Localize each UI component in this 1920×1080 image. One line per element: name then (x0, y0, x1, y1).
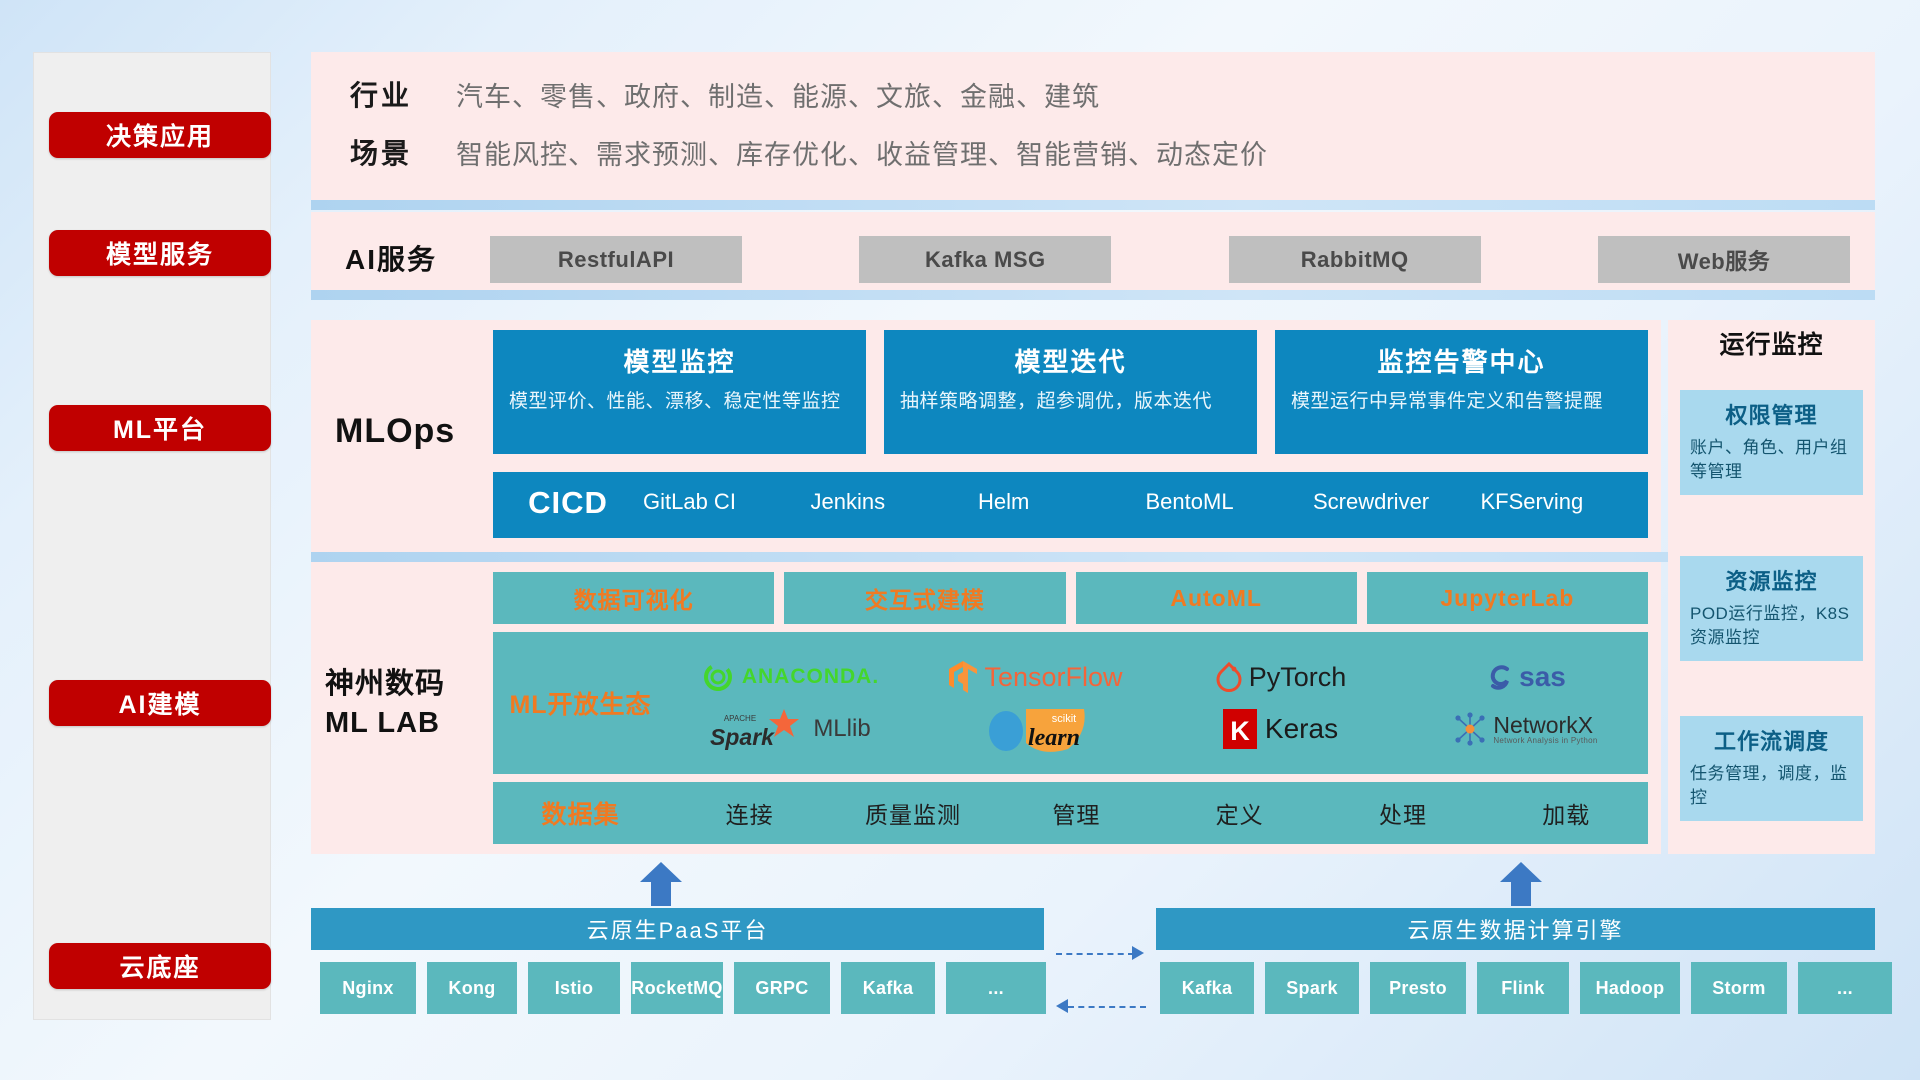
sidebar-item-label: 决策应用 (106, 117, 214, 153)
dataset-item-list: 连接 质量监测 管理 定义 处理 加载 (668, 796, 1648, 830)
engine-chip-presto[interactable]: Presto (1370, 962, 1466, 1014)
cloud-chip-rocketmq[interactable]: RocketMQ (631, 962, 723, 1014)
band-divider (311, 200, 1875, 210)
cicd-row: CICD GitLab CI Jenkins Helm BentoML Scre… (493, 472, 1648, 538)
mlops-card-model-iteration[interactable]: 模型迭代 抽样策略调整，超参调优，版本迭代 (884, 330, 1257, 454)
card-title: 监控告警中心 (1291, 342, 1632, 379)
pytorch-label: PyTorch (1249, 662, 1347, 693)
dataset-title: 数据集 (493, 795, 668, 831)
industry-value: 汽车、零售、政府、制造、能源、文旅、金融、建筑 (456, 75, 1100, 114)
tensorflow-icon (948, 660, 978, 694)
ml-lab-label-line1: 神州数码 (325, 665, 445, 704)
spark-icon: APACHE Spark (710, 707, 806, 751)
spark-mllib-logo[interactable]: APACHE Spark MLlib (710, 707, 870, 751)
cicd-tool-list: GitLab CI Jenkins Helm BentoML Screwdriv… (643, 472, 1648, 516)
chip-label: Flink (1501, 978, 1545, 998)
keras-label: Keras (1265, 713, 1338, 745)
svg-text:Spark: Spark (710, 724, 775, 750)
ml-ecosystem-logo-grid: ANACONDA. TensorFlow PyTorch (668, 651, 1648, 755)
networkx-logo[interactable]: NetworkX Network Analysis in Python (1453, 712, 1597, 746)
ai-service-chip-list: RestfulAPI Kafka MSG RabbitMQ Web服务 (490, 236, 1850, 283)
cicd-title: CICD (493, 472, 643, 521)
card-desc: 账户、角色、用户组等管理 (1690, 436, 1853, 484)
chip-label: ... (1837, 978, 1853, 998)
sidebar-item-label: 云底座 (119, 948, 200, 984)
anaconda-icon (702, 661, 734, 693)
sidebar-item-label: 模型服务 (106, 235, 214, 271)
ai-service-chip-restfulapi[interactable]: RestfulAPI (490, 236, 742, 283)
sas-label: sas (1519, 661, 1566, 693)
ai-service-chip-web-service[interactable]: Web服务 (1598, 236, 1850, 283)
cicd-tool-gitlab-ci[interactable]: GitLab CI (643, 472, 811, 516)
cloud-data-engine-bar[interactable]: 云原生数据计算引擎 (1156, 908, 1875, 950)
chip-label: Spark (1286, 978, 1338, 998)
card-title: 工作流调度 (1690, 724, 1853, 756)
dataset-item-load[interactable]: 加载 (1485, 796, 1648, 830)
engine-chip-kafka[interactable]: Kafka (1160, 962, 1254, 1014)
tensorflow-logo[interactable]: TensorFlow (948, 660, 1122, 694)
networkx-icon (1453, 712, 1487, 746)
upward-arrow-left (640, 862, 682, 908)
card-desc: 任务管理，调度，监控 (1690, 762, 1853, 810)
sidebar-item-label: ML平台 (113, 410, 207, 446)
card-desc: 模型评价、性能、漂移、稳定性等监控 (509, 389, 850, 416)
monitoring-card-permission[interactable]: 权限管理 账户、角色、用户组等管理 (1680, 390, 1863, 495)
chip-label: Kafka (1182, 978, 1233, 998)
card-title: 权限管理 (1690, 398, 1853, 430)
card-title: 模型监控 (509, 342, 850, 379)
chip-label: ... (988, 978, 1004, 998)
cicd-tool-jenkins[interactable]: Jenkins (811, 472, 979, 516)
dataset-item-manage[interactable]: 管理 (995, 796, 1158, 830)
mlops-card-list: 模型监控 模型评价、性能、漂移、稳定性等监控 模型迭代 抽样策略调整，超参调优，… (493, 330, 1648, 454)
chip-label: Storm (1712, 978, 1766, 998)
networkx-tagline: Network Analysis in Python (1493, 737, 1597, 745)
anaconda-logo[interactable]: ANACONDA. (702, 661, 879, 693)
card-desc: 抽样策略调整，超参调优，版本迭代 (900, 389, 1241, 416)
dashed-arrowhead-left (1056, 999, 1068, 1013)
ai-service-chip-kafka-msg[interactable]: Kafka MSG (859, 236, 1111, 283)
cloud-chip-kong[interactable]: Kong (427, 962, 517, 1014)
cloud-chip-istio[interactable]: Istio (528, 962, 620, 1014)
card-desc: POD运行监控，K8S资源监控 (1690, 602, 1853, 650)
dataset-item-connect[interactable]: 连接 (668, 796, 831, 830)
cloud-data-engine-chip-list: Kafka Spark Presto Flink Hadoop Storm ..… (1160, 962, 1892, 1014)
monitoring-card-resource[interactable]: 资源监控 POD运行监控，K8S资源监控 (1680, 556, 1863, 661)
cloud-chip-grpc[interactable]: GRPC (734, 962, 830, 1014)
keras-icon: K (1223, 709, 1257, 749)
scenario-row: 场景 智能风控、需求预测、库存优化、收益管理、智能营销、动态定价 (350, 132, 1268, 172)
sidebar-item-ai-modeling[interactable]: AI建模 (49, 680, 271, 726)
cicd-tool-kfserving[interactable]: KFServing (1481, 472, 1649, 516)
tab-interactive-modeling[interactable]: 交互式建模 (784, 572, 1065, 624)
svg-text:scikit: scikit (1051, 713, 1075, 725)
sidebar-item-ml-platform[interactable]: ML平台 (49, 405, 271, 451)
card-desc: 模型运行中异常事件定义和告警提醒 (1291, 389, 1632, 416)
monitoring-title: 运行监控 (1668, 325, 1875, 361)
cicd-tool-bentoml[interactable]: BentoML (1146, 472, 1314, 516)
dashed-connector-top (1056, 953, 1134, 955)
chip-label: Presto (1389, 978, 1447, 998)
svg-text:K: K (1230, 716, 1250, 746)
mlops-card-model-monitoring[interactable]: 模型监控 模型评价、性能、漂移、稳定性等监控 (493, 330, 866, 454)
sidebar-item-label: AI建模 (118, 685, 201, 721)
scenario-label: 场景 (350, 132, 412, 172)
svg-text:APACHE: APACHE (724, 714, 756, 723)
pytorch-logo[interactable]: PyTorch (1215, 661, 1347, 693)
tab-label: 交互式建模 (865, 581, 985, 615)
sidebar-item-decision-app[interactable]: 决策应用 (49, 112, 271, 158)
mllib-label: MLlib (813, 715, 870, 743)
sas-icon (1485, 662, 1515, 692)
tab-data-visualization[interactable]: 数据可视化 (493, 572, 774, 624)
chip-label: Nginx (342, 978, 394, 998)
monitoring-card-workflow[interactable]: 工作流调度 任务管理，调度，监控 (1680, 716, 1863, 821)
chip-label: RestfulAPI (558, 247, 674, 273)
mlops-label: MLOps (335, 412, 455, 451)
ml-lab-label: 神州数码 ML LAB (325, 665, 445, 743)
dataset-row: 数据集 连接 质量监测 管理 定义 处理 加载 (493, 782, 1648, 844)
dashed-connector-bottom (1068, 1006, 1146, 1008)
chip-label: RabbitMQ (1301, 247, 1409, 273)
svg-text:learn: learn (1027, 725, 1079, 751)
pytorch-icon (1215, 661, 1243, 693)
cloud-chip-more[interactable]: ... (946, 962, 1046, 1014)
cloud-chip-kafka[interactable]: Kafka (841, 962, 935, 1014)
scenario-value: 智能风控、需求预测、库存优化、收益管理、智能营销、动态定价 (456, 133, 1268, 172)
tab-automl[interactable]: AutoML (1076, 572, 1357, 624)
sidebar-item-model-service[interactable]: 模型服务 (49, 230, 271, 276)
chip-label: Hadoop (1596, 978, 1665, 998)
tensorflow-label: TensorFlow (984, 662, 1122, 693)
engine-chip-hadoop[interactable]: Hadoop (1580, 962, 1680, 1014)
chip-label: Kafka MSG (925, 247, 1046, 273)
tab-jupyterlab[interactable]: JupyterLab (1367, 572, 1648, 624)
engine-chip-storm[interactable]: Storm (1691, 962, 1787, 1014)
scikit-learn-logo[interactable]: scikit learn (982, 703, 1090, 755)
card-title: 模型迭代 (900, 342, 1241, 379)
band-divider (311, 290, 1875, 300)
cloud-paas-label: 云原生PaaS平台 (587, 913, 769, 945)
industry-label: 行业 (350, 74, 412, 114)
engine-chip-spark[interactable]: Spark (1265, 962, 1359, 1014)
band-divider (311, 552, 1875, 562)
cicd-tool-helm[interactable]: Helm (978, 472, 1146, 516)
tab-label: 数据可视化 (574, 581, 694, 615)
cloud-paas-chip-list: Nginx Kong Istio RocketMQ GRPC Kafka ... (320, 962, 1046, 1014)
tab-label: AutoML (1170, 585, 1262, 612)
sas-logo[interactable]: sas (1485, 661, 1566, 693)
dashed-arrowhead-right (1132, 946, 1144, 960)
keras-logo[interactable]: K Keras (1223, 709, 1338, 749)
ml-ecosystem-label: ML开放生态 (493, 685, 668, 721)
mlops-card-alert-center[interactable]: 监控告警中心 模型运行中异常事件定义和告警提醒 (1275, 330, 1648, 454)
industry-row: 行业 汽车、零售、政府、制造、能源、文旅、金融、建筑 (350, 74, 1100, 114)
chip-label: Web服务 (1678, 244, 1771, 276)
card-title: 资源监控 (1690, 564, 1853, 596)
dataset-item-process[interactable]: 处理 (1321, 796, 1484, 830)
sidebar-item-cloud-base[interactable]: 云底座 (49, 943, 271, 989)
networkx-label: NetworkX (1493, 714, 1597, 737)
cloud-paas-bar[interactable]: 云原生PaaS平台 (311, 908, 1044, 950)
chip-label: Kong (448, 978, 495, 998)
ai-service-label: AI服务 (345, 238, 437, 278)
dataset-item-define[interactable]: 定义 (1158, 796, 1321, 830)
chip-label: RocketMQ (631, 978, 722, 998)
engine-chip-more[interactable]: ... (1798, 962, 1892, 1014)
cicd-tool-screwdriver[interactable]: Screwdriver (1313, 472, 1481, 516)
engine-chip-flink[interactable]: Flink (1477, 962, 1569, 1014)
tab-label: JupyterLab (1440, 585, 1574, 612)
cloud-data-engine-label: 云原生数据计算引擎 (1407, 913, 1623, 945)
chip-label: Istio (555, 978, 594, 998)
scikit-learn-icon: scikit learn (982, 703, 1090, 755)
layer-rail (33, 52, 271, 1020)
anaconda-label: ANACONDA. (742, 665, 879, 689)
ai-service-chip-rabbitmq[interactable]: RabbitMQ (1229, 236, 1481, 283)
ml-lab-label-line2: ML LAB (325, 704, 445, 743)
diagram-canvas: 决策应用 模型服务 ML平台 AI建模 云底座 行业 汽车、零售、政府、制造、能… (0, 0, 1920, 1080)
chip-label: GRPC (755, 978, 808, 998)
modeling-tab-list: 数据可视化 交互式建模 AutoML JupyterLab (493, 572, 1648, 624)
ml-ecosystem-box: ML开放生态 ANACONDA. TensorFlow (493, 632, 1648, 774)
upward-arrow-right (1500, 862, 1542, 908)
cloud-chip-nginx[interactable]: Nginx (320, 962, 416, 1014)
chip-label: Kafka (863, 978, 914, 998)
dataset-item-quality-monitoring[interactable]: 质量监测 (831, 796, 994, 830)
